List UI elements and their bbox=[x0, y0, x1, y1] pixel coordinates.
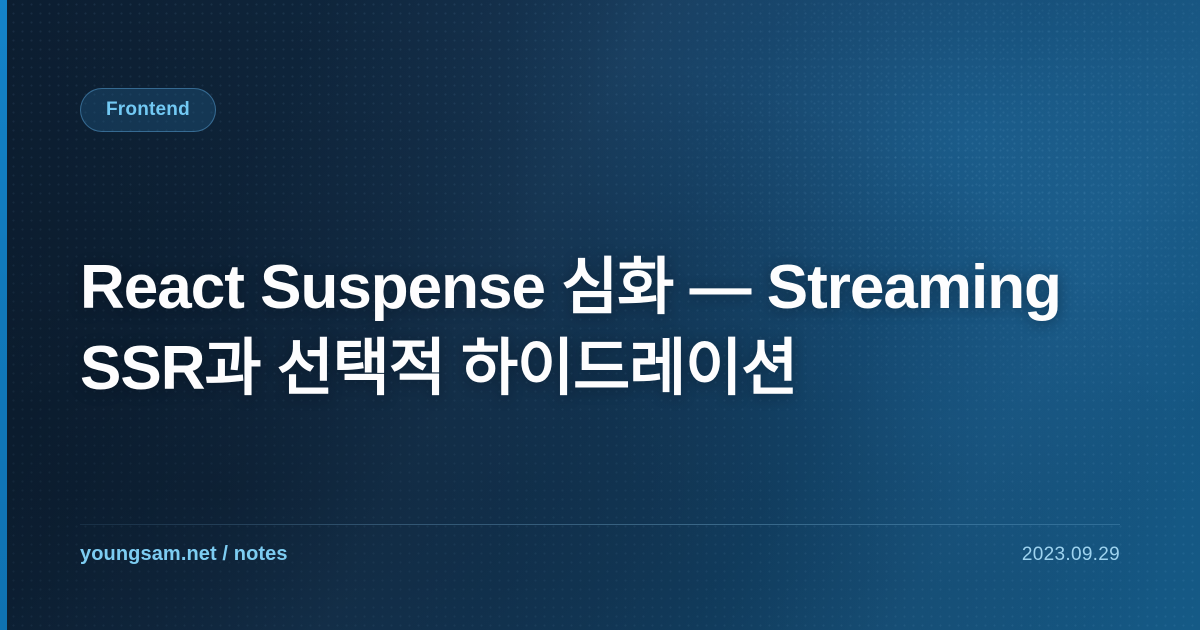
category-badge[interactable]: Frontend bbox=[80, 88, 216, 132]
footer-divider bbox=[80, 524, 1120, 525]
publish-date: 2023.09.29 bbox=[1022, 544, 1120, 566]
card-footer: youngsam.net / notes 2023.09.29 bbox=[80, 543, 1120, 566]
card-content: Frontend React Suspense 심화 — Streaming S… bbox=[0, 0, 1200, 630]
og-card: Frontend React Suspense 심화 — Streaming S… bbox=[0, 0, 1200, 630]
site-name[interactable]: youngsam.net / notes bbox=[80, 543, 288, 566]
page-title: React Suspense 심화 — Streaming SSR과 선택적 하… bbox=[80, 248, 1140, 409]
